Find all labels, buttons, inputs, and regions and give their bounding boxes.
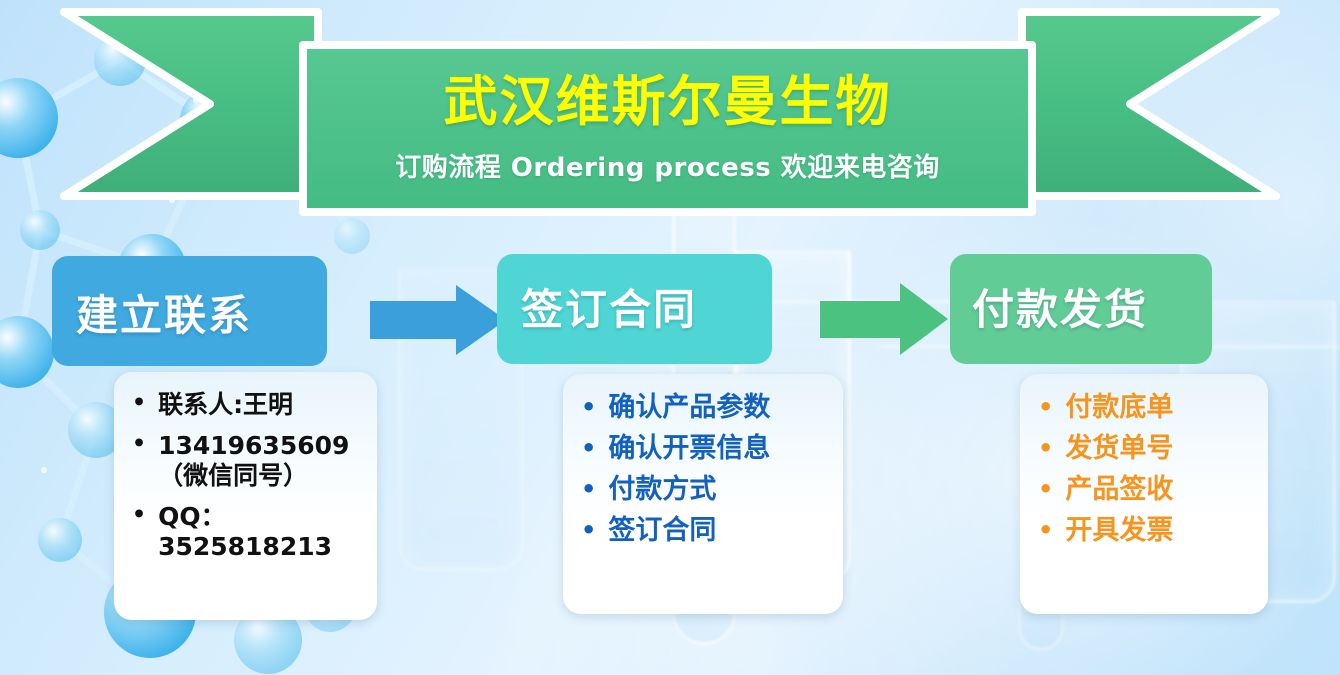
step-header-label: 付款发货 bbox=[972, 276, 1148, 337]
bullet-icon: • bbox=[1038, 518, 1053, 542]
arrow-1-icon bbox=[368, 283, 508, 357]
arrow-2-icon bbox=[818, 281, 950, 357]
step-header-label: 建立联系 bbox=[76, 282, 252, 343]
list-item: • 产品签收 bbox=[1038, 474, 1254, 507]
list-item: • 联系人:王明 bbox=[132, 390, 363, 421]
bullet-icon: • bbox=[581, 518, 596, 542]
list-item: • 13419635609 （微信同号） bbox=[132, 431, 363, 492]
list-item-text: 付款方式 bbox=[608, 474, 716, 507]
list-item: • 发货单号 bbox=[1038, 433, 1254, 466]
list-item-text: 确认开票信息 bbox=[608, 433, 770, 466]
bullet-icon: • bbox=[581, 477, 596, 501]
list-item: • 付款方式 bbox=[581, 474, 829, 507]
list-item: • 确认开票信息 bbox=[581, 433, 829, 466]
step-body-payment: • 付款底单 • 发货单号 • 产品签收 • 开具发票 bbox=[1020, 374, 1268, 614]
list-item-text: 签订合同 bbox=[608, 515, 716, 548]
bullet-icon: • bbox=[132, 433, 146, 455]
list-item-text: 确认产品参数 bbox=[608, 392, 770, 425]
list-item: • 开具发票 bbox=[1038, 515, 1254, 548]
infographic-canvas: 武汉维斯尔曼生物 订购流程 Ordering process 欢迎来电咨询 建立… bbox=[0, 0, 1340, 675]
step-body-contract: • 确认产品参数 • 确认开票信息 • 付款方式 • 签订合同 bbox=[563, 374, 843, 614]
step-header-contract: 签订合同 bbox=[497, 254, 772, 364]
step-body-contact: • 联系人:王明 • 13419635609 （微信同号） • QQ： 3525… bbox=[114, 372, 377, 620]
list-item-text: 联系人:王明 bbox=[158, 390, 293, 421]
bullet-icon: • bbox=[581, 395, 596, 419]
bullet-icon: • bbox=[132, 393, 146, 415]
bullet-icon: • bbox=[132, 504, 146, 526]
contract-detail-list: • 确认产品参数 • 确认开票信息 • 付款方式 • 签订合同 bbox=[581, 392, 829, 548]
list-item-text: 发货单号 bbox=[1065, 433, 1173, 466]
step-header-label: 签订合同 bbox=[521, 276, 697, 337]
list-item: • 签订合同 bbox=[581, 515, 829, 548]
list-item-text: 产品签收 bbox=[1065, 474, 1173, 507]
list-item: • 付款底单 bbox=[1038, 392, 1254, 425]
step-header-payment: 付款发货 bbox=[950, 254, 1212, 364]
step-card-contract: 签订合同 • 确认产品参数 • 确认开票信息 • 付款方式 • 签订合同 bbox=[497, 254, 847, 616]
payment-detail-list: • 付款底单 • 发货单号 • 产品签收 • 开具发票 bbox=[1038, 392, 1254, 548]
list-item-text: 开具发票 bbox=[1065, 515, 1173, 548]
step-card-payment: 付款发货 • 付款底单 • 发货单号 • 产品签收 • 开具发票 bbox=[950, 254, 1290, 616]
step-card-contact: 建立联系 • 联系人:王明 • 13419635609 （微信同号） • QQ：… bbox=[52, 256, 382, 616]
banner-title: 武汉维斯尔曼生物 bbox=[444, 74, 892, 131]
list-item-text: QQ： 3525818213 bbox=[158, 502, 332, 563]
banner-ribbon: 武汉维斯尔曼生物 订购流程 Ordering process 欢迎来电咨询 bbox=[0, 0, 1340, 230]
banner-subtitle: 订购流程 Ordering process 欢迎来电咨询 bbox=[395, 147, 939, 184]
list-item: • QQ： 3525818213 bbox=[132, 502, 363, 563]
bullet-icon: • bbox=[1038, 395, 1053, 419]
bullet-icon: • bbox=[1038, 477, 1053, 501]
bullet-icon: • bbox=[1038, 436, 1053, 460]
step-header-contact: 建立联系 bbox=[52, 256, 327, 366]
contact-detail-list: • 联系人:王明 • 13419635609 （微信同号） • QQ： 3525… bbox=[132, 390, 363, 563]
list-item-text: 付款底单 bbox=[1065, 392, 1173, 425]
list-item-text: 13419635609 （微信同号） bbox=[158, 431, 349, 492]
bullet-icon: • bbox=[581, 436, 596, 460]
list-item: • 确认产品参数 bbox=[581, 392, 829, 425]
